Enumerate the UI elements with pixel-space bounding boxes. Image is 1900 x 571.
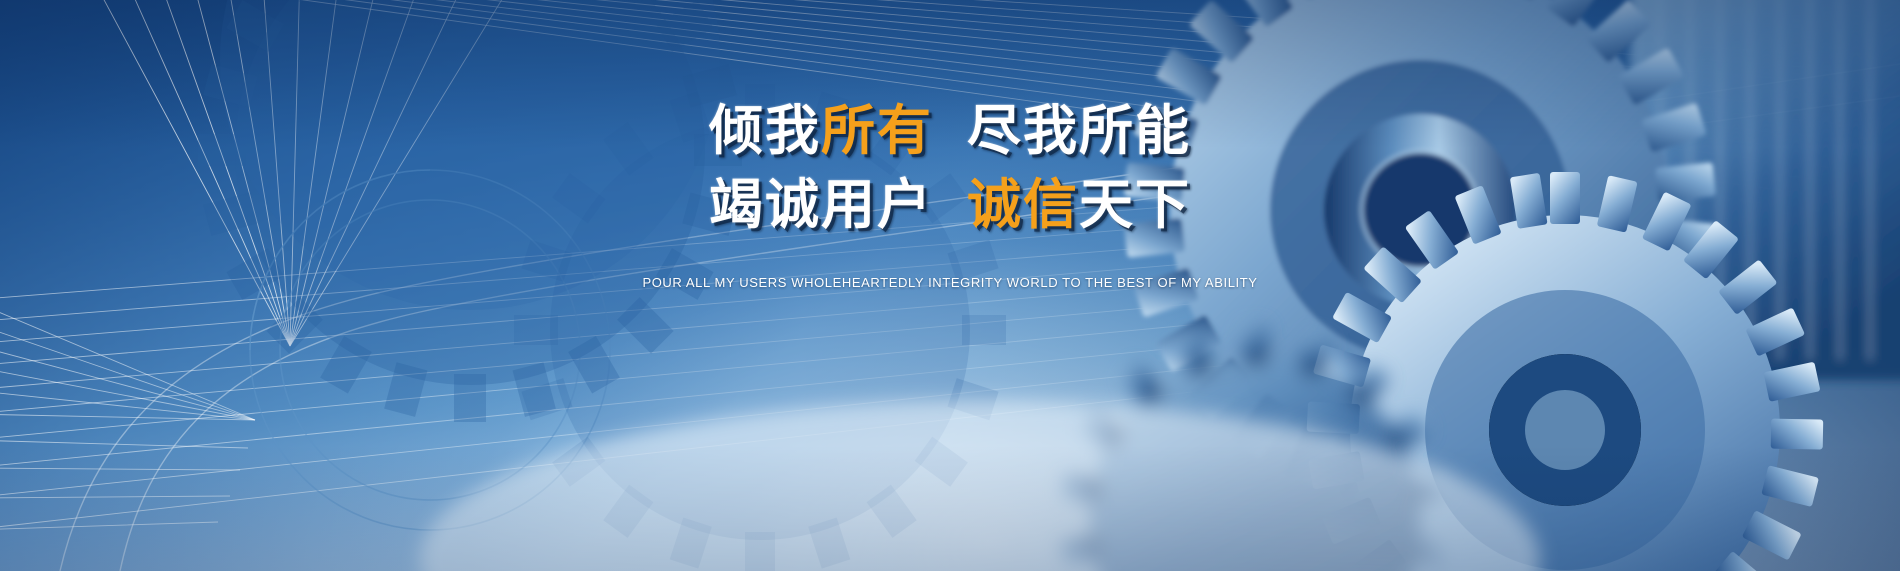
headline-line-1: 倾我所有尽我所能 [0,104,1900,158]
headline-segment-2c: 天下 [1079,178,1191,232]
headline-segment-2b: 诚信 [967,178,1079,232]
headline-block: 倾我所有尽我所能 竭诚用户诚信天下 [0,104,1900,232]
headline-segment-1a: 倾我 [709,104,821,158]
headline-line-2: 竭诚用户诚信天下 [0,178,1900,232]
headline-segment-1c: 尽我所能 [967,104,1191,158]
hero-banner: 倾我所有尽我所能 竭诚用户诚信天下 POUR ALL MY USERS WHOL… [0,0,1900,571]
headline-segment-1b: 所有 [821,104,933,158]
headline-segment-2a: 竭诚用户 [709,178,933,232]
banner-subtitle: POUR ALL MY USERS WHOLEHEARTEDLY INTEGRI… [0,275,1900,290]
